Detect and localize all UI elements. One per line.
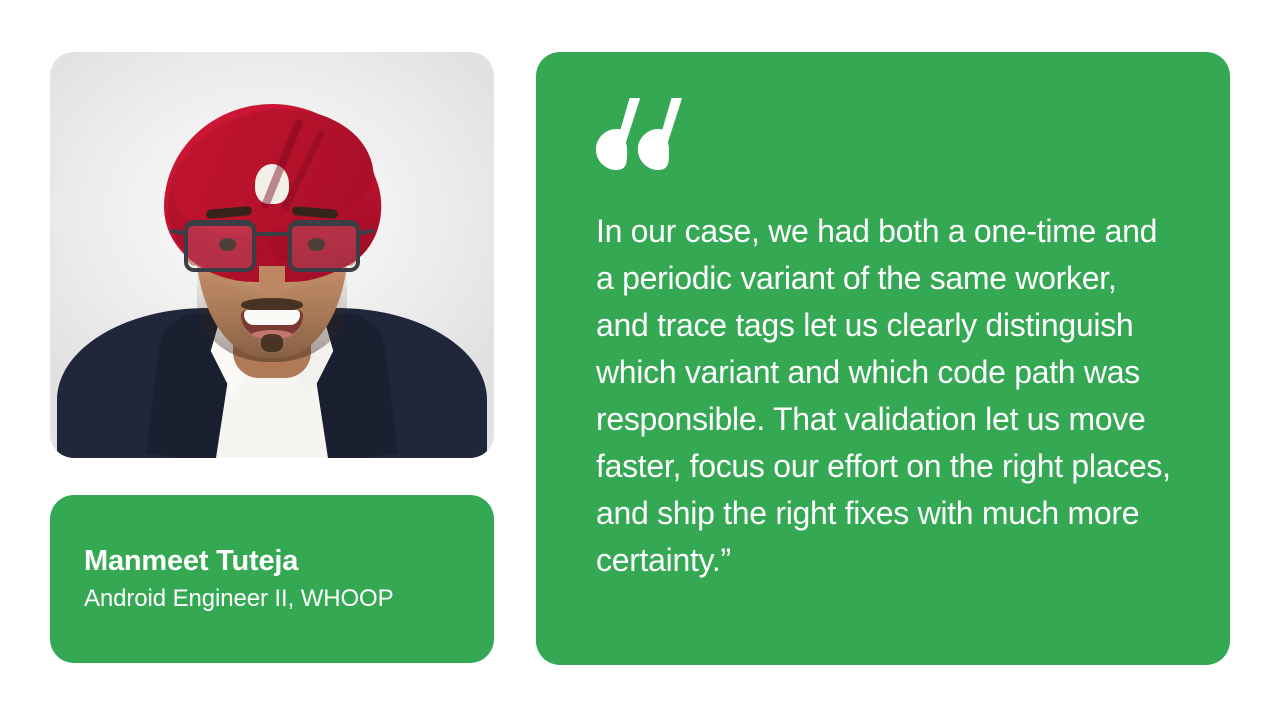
portrait-photo-card <box>50 52 494 458</box>
eyeglass-bridge <box>256 232 288 236</box>
open-quote-icon <box>596 98 682 170</box>
eyeglass-lens-left <box>184 220 256 272</box>
portrait-photo <box>50 52 494 458</box>
teeth <box>244 310 300 325</box>
eyeglass-lens-right <box>288 220 360 272</box>
quote-card: In our case, we had both a one-time and … <box>536 52 1230 665</box>
person-name: Manmeet Tuteja <box>84 544 474 579</box>
testimonial-slide: Manmeet Tuteja Android Engineer II, WHOO… <box>0 0 1280 720</box>
person-name-card: Manmeet Tuteja Android Engineer II, WHOO… <box>50 495 494 663</box>
nose <box>259 266 285 298</box>
quote-text: In our case, we had both a one-time and … <box>596 208 1174 584</box>
person-role: Android Engineer II, WHOOP <box>84 583 474 614</box>
soul-patch <box>261 334 283 352</box>
